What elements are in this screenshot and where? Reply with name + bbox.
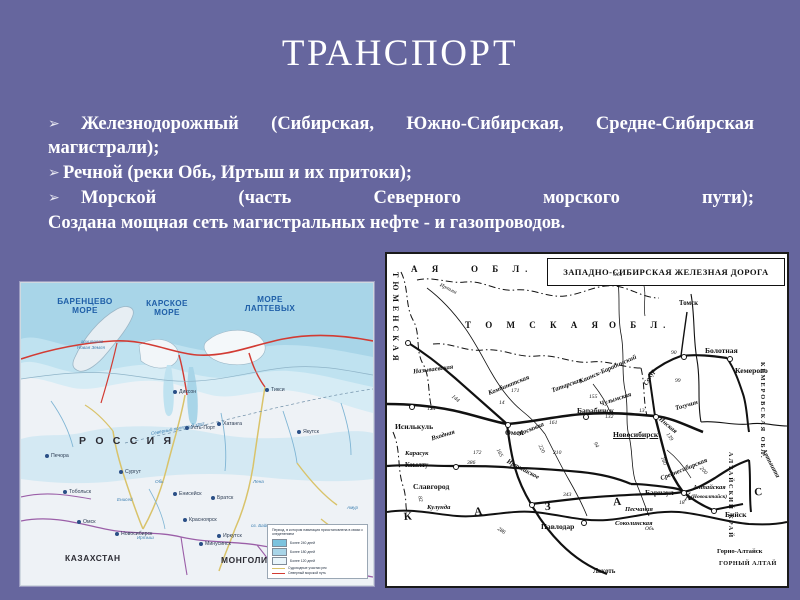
station-node [581, 520, 587, 526]
list-item: ➢Морской (часть Северного морского пути)… [48, 186, 754, 210]
distance-label: 386 [467, 460, 475, 466]
station-node [711, 508, 717, 514]
hydro-label-ob: Обь [155, 479, 164, 484]
legend-item: Более 120 дней [272, 557, 364, 565]
hydro-label-amur: Амур [347, 505, 358, 510]
station-node [529, 502, 535, 508]
distance-label: 82 [416, 496, 423, 503]
station-node [409, 404, 415, 410]
station-label-karasuk: Карасук [405, 450, 429, 457]
city-label-bolotnaya: Болотная [705, 346, 738, 355]
region-label-tyumenskaya: ТЮМЕНСКАЯ [391, 272, 400, 365]
city-label-dikson: Диксон [173, 389, 196, 395]
city-label-isilkul: Исилькуль [395, 422, 433, 431]
list-item: ➢Речной (реки Обь, Иртыш и их притоки); [48, 161, 754, 185]
station-node [453, 464, 459, 470]
station-label-kulunda: Кулунда [427, 504, 450, 511]
bullet-list: ➢Железнодорожный (Сибирская, Южно-Сибирс… [48, 112, 754, 236]
city-label-tobolsk: Тобольск [63, 489, 91, 495]
city-dot-icon [217, 534, 221, 538]
hydro-label-archipelago: архипелаг [81, 339, 103, 344]
distance-label: 13 [639, 408, 645, 414]
station-node [583, 414, 589, 420]
city-label-pechora: Печора [45, 453, 69, 459]
river-label-ob-top: Обь [613, 272, 622, 278]
city-label-omsk: Омск [77, 519, 95, 525]
list-item-text: Речной (реки Обь, Иртыш и их притоки); [63, 163, 412, 183]
region-label-tomskaya: Т О М С К А Я [465, 320, 604, 330]
station-node [405, 340, 411, 346]
bullet-arrow-icon: ➢ [48, 164, 57, 182]
city-label-slavgorod: Славгород [413, 482, 449, 491]
city-label-pavlodar: Павлодар [541, 522, 574, 531]
city-label-kzyltu: Кзылту [405, 462, 428, 469]
legend-label: Судоходные участки рек [288, 566, 327, 570]
country-label-kazakhstan: КАЗАХСТАН [65, 553, 121, 563]
distance-label: 155 [589, 394, 597, 400]
bullet-arrow-icon: ➢ [48, 115, 57, 133]
station-label-peschanaya: Песчаная [625, 506, 653, 513]
city-dot-icon [119, 470, 123, 474]
city-label-tomsk: Томск [679, 300, 698, 307]
distance-label: 99 [675, 378, 681, 384]
station-node [505, 422, 511, 428]
legend-swatch-180 [272, 548, 287, 556]
legend-item: Судоходные участки рек [272, 566, 364, 570]
region-label-altaysky-kray: АЛТАЙСКИЙ КРАЙ [727, 452, 734, 539]
list-item-text: Железнодорожный (Сибирская, Южно-Сибирск… [48, 114, 754, 158]
sea-label-laptev: МОРЕ ЛАПТЕВЫХ [233, 295, 307, 314]
station-label-altayskaya: Алтайская [693, 484, 726, 491]
legend-label: Более 180 дней [290, 550, 315, 554]
legend-label: Северный морской путь [288, 571, 326, 575]
station-node [653, 414, 659, 420]
city-label-bratsk: Братск [211, 495, 233, 501]
city-label-omsk: Омск [505, 428, 524, 437]
hydro-label-novaya-zemlya: Новая Земля [77, 345, 105, 350]
region-label-aya-obl: О Б Л. [471, 264, 533, 274]
distance-label: 14 [499, 400, 505, 406]
city-label-barnaul: Барнаул [645, 488, 674, 497]
distance-label: 172 [473, 450, 481, 456]
distance-label: 18 [679, 500, 685, 506]
distance-label: 210 [553, 450, 561, 456]
railway-map-title: ЗАПАДНО-СИБИРСКАЯ ЖЕЛЕЗНАЯ ДОРОГА [547, 258, 785, 286]
slide: ТРАНСПОРТ ➢Железнодорожный (Сибирская, Ю… [0, 0, 800, 600]
distance-label: 161 [549, 420, 557, 426]
map-navigation-sea-route: БАРЕНЦЕВО МОРЕ КАРСКОЕ МОРЕ МОРЕ ЛАПТЕВЫ… [20, 282, 374, 586]
city-dot-icon [63, 490, 67, 494]
city-dot-icon [217, 422, 221, 426]
legend-title: Период, в котором навигация приостановле… [272, 528, 364, 537]
river-label-ob-bottom: Обь [645, 526, 654, 532]
legend-swatch-120 [272, 557, 287, 565]
city-label-lokot: Локоть [593, 568, 615, 575]
distance-label: 132 [605, 414, 613, 420]
city-dot-icon [265, 388, 269, 392]
city-dot-icon [297, 430, 301, 434]
city-dot-icon [173, 390, 177, 394]
city-label-irkutsk: Иркутск [217, 533, 242, 539]
city-label-ust-port: Усть-Порт [185, 425, 215, 431]
legend-item: Более 180 дней [272, 548, 364, 556]
legend-line-sea-route [272, 573, 285, 574]
city-dot-icon [211, 496, 215, 500]
legend-label: Более 240 дней [290, 541, 315, 545]
city-label-surgut: Сургут [119, 469, 141, 475]
hydro-label-lena: Лена [253, 479, 264, 484]
city-label-minusinsk: Минусинск [199, 541, 231, 547]
station-node [681, 490, 687, 496]
region-label-kemerovskaya: КЕМЕРОВСКАЯ ОБЛ. [759, 362, 766, 460]
city-dot-icon [45, 454, 49, 458]
city-label-yakutsk: Якутск [297, 429, 319, 435]
legend-swatch-240 [272, 539, 287, 547]
page-title: ТРАНСПОРТ [0, 34, 800, 75]
station-node [681, 354, 687, 360]
station-node [727, 356, 733, 362]
hydro-label-yenisei: Енисей [117, 497, 133, 502]
legend-label: Более 120 дней [290, 559, 315, 563]
city-label-yeniseysk: Енисейск [173, 491, 201, 497]
city-dot-icon [77, 520, 81, 524]
region-label-tomskaya-obl: О Б Л. [609, 320, 671, 330]
city-label-novosibirsk: Новосибирск [115, 531, 152, 537]
city-dot-icon [199, 542, 203, 546]
country-label-russia: Р О С С И Я [79, 435, 174, 447]
city-dot-icon [115, 532, 119, 536]
legend-item: Северный морской путь [272, 571, 364, 575]
map-west-siberian-railway: ЗАПАДНО-СИБИРСКАЯ ЖЕЛЕЗНАЯ ДОРОГА Т О М … [385, 252, 789, 588]
city-label-biysk: Бийск [725, 510, 747, 519]
distance-label: 124 [427, 406, 435, 412]
list-item: ➢Железнодорожный (Сибирская, Южно-Сибирс… [48, 112, 754, 160]
city-label-krasnoyarsk: Красноярск [183, 517, 217, 523]
city-dot-icon [183, 518, 187, 522]
sea-label-barents: БАРЕНЦЕВО МОРЕ [45, 297, 125, 316]
city-label-gorno-altaysk: Горно-Алтайск [717, 548, 762, 555]
city-dot-icon [185, 426, 189, 430]
region-label-aya: А Я [411, 264, 444, 274]
city-label-novosibirsk: Новосибирск [613, 430, 658, 439]
distance-label: 171 [511, 388, 519, 394]
bullet-arrow-icon: ➢ [48, 189, 57, 207]
distance-label: 343 [563, 492, 571, 498]
distance-label: 90 [671, 350, 677, 356]
city-dot-icon [173, 492, 177, 496]
legend-line-rivers [272, 568, 285, 569]
city-label-khatanga: Хатанга [217, 421, 242, 427]
list-item-text: Создана мощная сеть магистральных нефте … [48, 213, 565, 233]
station-label-novoaltaysk: (Новоалтайск) [691, 494, 727, 500]
sea-label-kara: КАРСКОЕ МОРЕ [131, 299, 203, 318]
region-label-gorny-altay: ГОРНЫЙ АЛТАЙ [719, 560, 777, 567]
list-item-text: Морской (часть Северного морского пути); [81, 188, 754, 208]
legend-item: Более 240 дней [272, 539, 364, 547]
city-label-tiksi: Тикси [265, 387, 285, 393]
city-label-kemerovo: Кемерово [735, 366, 768, 375]
map-legend: Период, в котором навигация приостановле… [267, 524, 368, 579]
list-item: Создана мощная сеть магистральных нефте … [48, 211, 754, 235]
